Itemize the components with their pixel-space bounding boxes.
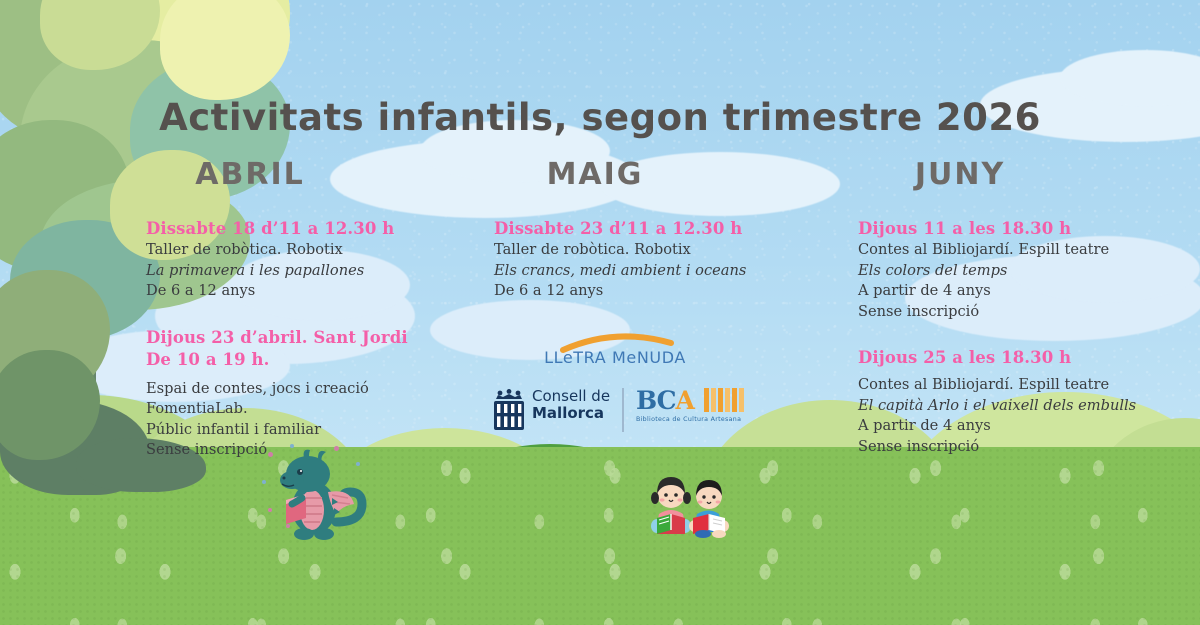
event-line: A partir de 4 anys [858, 416, 1158, 437]
event-line: Contes al Bibliojardí. Espill teatre [858, 240, 1158, 261]
event-line: Taller de robòtica. Robotix [146, 240, 436, 261]
month-header-maig: MAIG [495, 157, 695, 192]
event-line: Sense inscripció [858, 437, 1158, 458]
column-maig: Dissabte 23 d’11 a 12.30 h Taller de rob… [494, 218, 794, 318]
event-block: Dijous 23 d’abril. Sant Jordi De 10 a 19… [146, 327, 436, 461]
bca-a: A [676, 386, 694, 415]
event-block: Dijous 25 a les 18.30 h Contes al Biblio… [858, 347, 1158, 457]
event-line: Contes al Bibliojardí. Espill teatre [858, 375, 1158, 396]
event-line: La primavera i les papallones [146, 261, 436, 282]
children-reading-illustration [645, 468, 741, 542]
poster: Activitats infantils, segon trimestre 20… [0, 0, 1200, 625]
event-line: A partir de 4 anys [858, 281, 1158, 302]
event-heading: Dissabte 23 d’11 a 12.30 h [494, 218, 794, 240]
event-line: Els crancs, medi ambient i oceans [494, 261, 794, 282]
event-line: Sense inscripció [858, 302, 1158, 323]
consell-mallorca-text: Consell de Mallorca [532, 388, 610, 422]
month-header-abril: ABRIL [150, 157, 350, 192]
consell-line-2: Mallorca [532, 405, 610, 422]
event-heading: Dijous 11 a les 18.30 h [858, 218, 1158, 240]
consell-mallorca-logo: Consell de Mallorca [492, 388, 612, 432]
event-line: Espai de contes, jocs i creació [146, 379, 436, 400]
bca-logo: BCA Biblioteca de Cultura Artesana [636, 386, 746, 432]
bca-subtitle: Biblioteca de Cultura Artesana [636, 416, 741, 423]
event-heading: De 10 a 19 h. [146, 349, 436, 371]
bca-bc: BC [636, 386, 676, 415]
lletra-menuda-text: LLeTRA MeNUDA [525, 348, 705, 367]
event-line: Els colors del temps [858, 261, 1158, 282]
event-line: De 6 a 12 anys [146, 281, 436, 302]
event-block: Dissabte 18 d’11 a 12.30 h Taller de rob… [146, 218, 436, 302]
event-heading: Dissabte 18 d’11 a 12.30 h [146, 218, 436, 240]
dragon-reading-illustration [262, 448, 374, 544]
book-spines-icon [704, 388, 746, 412]
event-block: Dissabte 23 d’11 a 12.30 h Taller de rob… [494, 218, 794, 302]
spacer [858, 338, 1158, 347]
event-block: Dijous 11 a les 18.30 h Contes al Biblio… [858, 218, 1158, 322]
bca-initials: BCA [636, 386, 694, 415]
column-abril: Dissabte 18 d’11 a 12.30 h Taller de rob… [146, 218, 436, 477]
event-heading: Dijous 23 d’abril. Sant Jordi [146, 327, 436, 349]
mallorca-crest-icon [492, 389, 526, 431]
lletra-menuda-logo: LLeTRA MeNUDA [525, 336, 705, 372]
event-line: De 6 a 12 anys [494, 281, 794, 302]
month-header-juny: JUNY [860, 157, 1060, 192]
event-line: FomentiaLab. [146, 399, 436, 420]
spacer [146, 318, 436, 327]
consell-line-1: Consell de [532, 388, 610, 405]
page-title: Activitats infantils, segon trimestre 20… [0, 96, 1200, 139]
event-line: El capità Arlo i el vaixell dels embulls [858, 396, 1158, 417]
event-line: Públic infantil i familiar [146, 420, 436, 441]
event-heading: Dijous 25 a les 18.30 h [858, 347, 1158, 369]
logo-divider [622, 388, 624, 432]
column-juny: Dijous 11 a les 18.30 h Contes al Biblio… [858, 218, 1158, 473]
month-headers: ABRIL MAIG JUNY [0, 157, 1200, 197]
event-line: Taller de robòtica. Robotix [494, 240, 794, 261]
